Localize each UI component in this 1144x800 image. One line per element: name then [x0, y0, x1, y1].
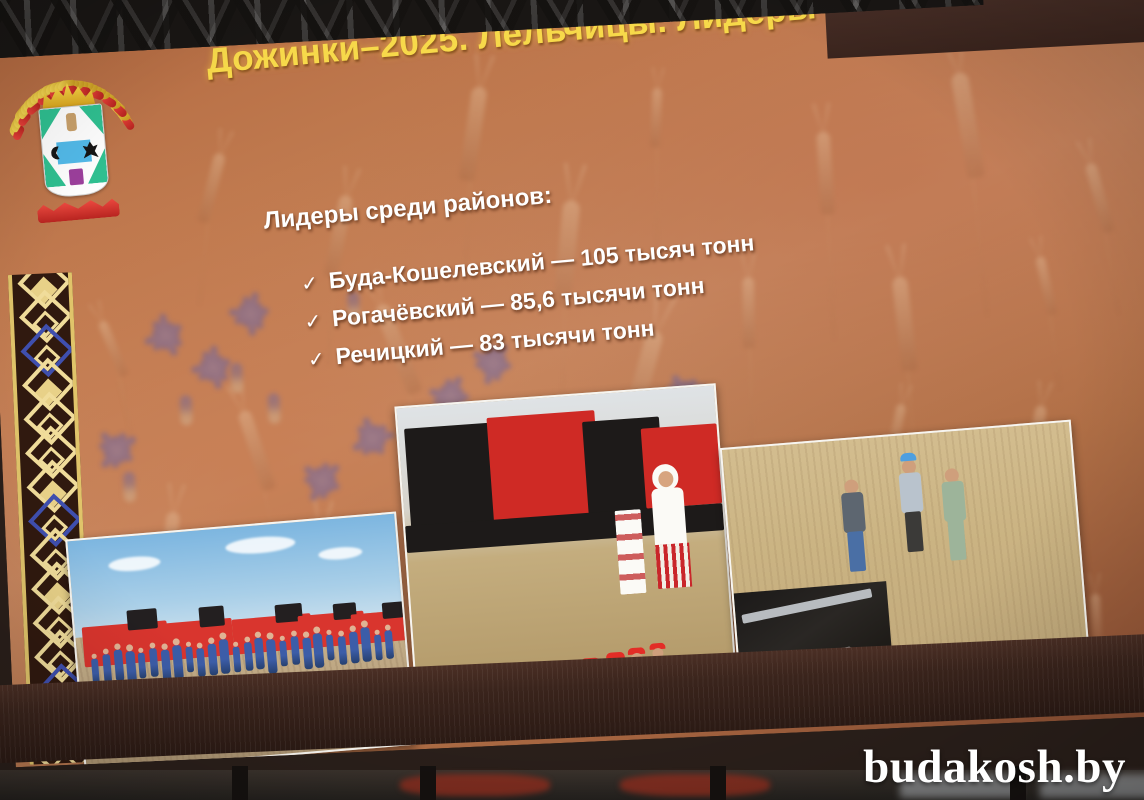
- check-icon: ✓: [307, 346, 326, 372]
- below-screen-red-glow: [620, 774, 770, 796]
- coat-of-arms-gomel-region: [0, 62, 151, 259]
- photo-award-ceremony: [394, 383, 735, 678]
- screen-support: [710, 766, 726, 800]
- check-icon: ✓: [300, 271, 319, 297]
- emblem-ribbon: [37, 196, 120, 223]
- shield-icon: [38, 103, 110, 198]
- screen-support: [232, 766, 248, 800]
- check-icon: ✓: [304, 308, 323, 334]
- site-watermark: budakosh.by: [863, 740, 1126, 794]
- screenshot-stage: Дожинки–2025. Лельчицы. Лидеры жатвы Лид…: [0, 0, 1144, 800]
- screen-support: [420, 766, 436, 800]
